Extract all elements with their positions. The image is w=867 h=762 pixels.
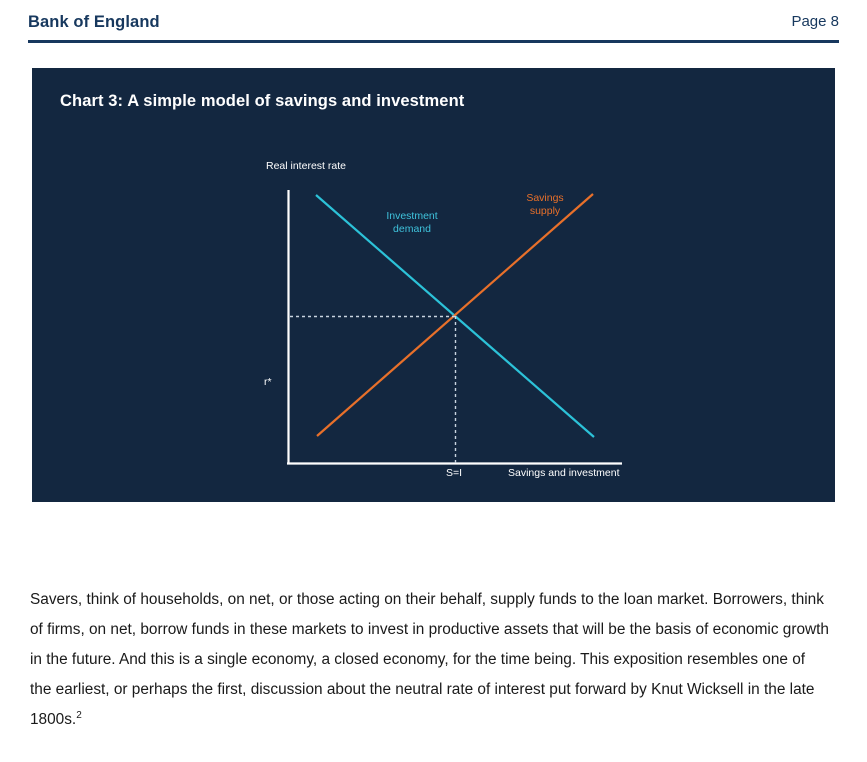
savings-supply-label: Savings supply [510,192,580,217]
chart-plot-area: Real interest rate Savings and investmen… [32,68,835,502]
investment-demand-label: Investment demand [372,210,452,235]
x-axis-title: Savings and investment [508,467,619,480]
body-paragraph-text: Savers, think of households, on net, or … [30,591,829,728]
institution-title: Bank of England [28,12,160,32]
chart-svg [32,68,835,502]
y-axis-title: Real interest rate [266,160,346,173]
footnote-marker: 2 [76,710,82,721]
equilibrium-quantity-label: S=I [446,467,462,480]
chart-panel: Chart 3: A simple model of savings and i… [32,68,835,502]
body-paragraph: Savers, think of households, on net, or … [30,585,830,735]
equilibrium-rate-label: r* [264,376,272,389]
page-number-label: Page 8 [791,12,839,32]
header-divider [28,40,839,43]
